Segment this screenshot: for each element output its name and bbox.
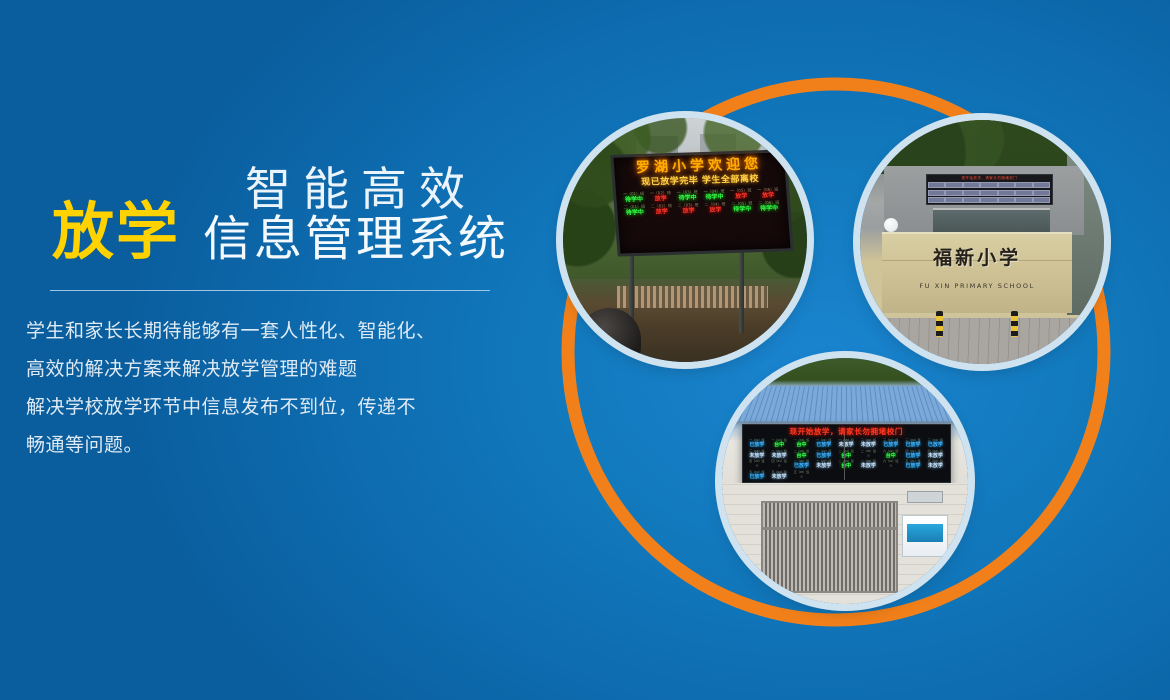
led-class-cell: 五（05）班■ [790,470,812,481]
person-silhouette [578,308,641,362]
photo-fuxin-school-gate: 现开始放学，请家长勿拥堵校门 福新小学 FU XIN PRIMARY SCHOO… [860,120,1104,364]
led-class-cell: 一（03）班待学中 [674,189,702,203]
metal-gate [761,501,898,594]
led-header-gate: 现开始放学，请家长勿拥堵校门 [746,427,947,437]
description-line-3: 解决学校放学环节中信息发布不到位，传递不 [26,388,546,426]
led-class-cell: 三（01）班未放学 [857,438,879,449]
led-class-cell: 二（01）班待学中 [621,204,649,218]
led-class-cell [1033,197,1050,203]
fence-shape [617,286,768,308]
led-class-cell: 五（04）班未放学 [768,470,790,481]
led-class-cell [1015,182,1032,188]
led-column-separator [844,435,845,481]
led-class-cell: 一（02）班放学 [647,190,675,204]
led-class-cell: 一（06）班放学 [754,187,782,201]
led-class-cell: 二（06）班待学中 [755,200,783,214]
led-class-cell: 三（02）班已放学 [880,438,902,449]
led-class-cell: 二（05）班■ [857,449,879,460]
led-class-cell: 四（02）班未放学 [924,449,946,460]
led-class-cell: 五（03）班已放学 [746,470,768,481]
led-class-cell [945,182,962,188]
lamp-post [884,218,898,232]
led-class-cell [998,190,1015,196]
school-name-en: FU XIN PRIMARY SCHOOL [882,282,1072,290]
led-class-grid-luohu: 一（01）班待学中一（02）班放学一（03）班待学中一（04）班待学中一（05）… [620,187,784,218]
led-display-board-luohu: 罗湖小学欢迎您 现已放学完毕 学生全部离校 一（01）班待学中一（02）班放学一… [610,150,793,258]
led-class-cell: 二（08）班台中 [835,459,857,470]
bollard-left [936,311,943,337]
led-class-cell [963,197,980,203]
description-text: 学生和家长长期待能够有一套人性化、智能化、 高效的解决方案来解决放学管理的难题 … [26,312,546,464]
led-class-cell: 一（03）班台中 [790,438,812,449]
led-class-cell [980,197,997,203]
led-class-cell: 一（05）班放学 [728,188,756,202]
led-class-cell: 二（02）班台中 [790,449,812,460]
led-class-cell: 二（03）班已放学 [813,449,835,460]
led-class-cell: 二（07）班未放学 [813,459,835,470]
bollard-right [1011,311,1018,337]
led-class-cell [980,182,997,188]
promo-banner: 智能高效 放学 信息管理系统 学生和家长长期待能够有一套人性化、智能化、 高效的… [0,0,1170,700]
led-class-cell: 五（01）班已放学 [902,459,924,470]
led-class-cell: 一（04）班已放学 [813,438,835,449]
headline-highlight: 放学 [52,201,180,263]
blue-tiled-canopy [723,386,967,422]
led-class-cell: 三（04）班已放学 [924,438,946,449]
led-class-cell [945,197,962,203]
school-name-cn: 福新小学 [882,247,1072,269]
led-class-cell: 二（04）班放学 [702,201,730,215]
led-class-cell [928,197,945,203]
led-class-cell [1033,182,1050,188]
headline-kicker: 智能高效 [245,166,477,212]
led-class-cell: 二（05）班待学中 [728,200,756,214]
led-class-cell [963,182,980,188]
led-class-cell [998,182,1015,188]
led-class-cell: 二（02）班放学 [648,203,676,217]
notice-board [902,515,948,556]
led-class-cell [980,190,997,196]
led-class-cell [1015,197,1032,203]
led-class-grid-gate: 一（01）班已放学一（02）班台中一（03）班台中一（04）班已放学一（05）班… [746,438,947,480]
led-class-cell: 一（01）班待学中 [620,191,648,205]
led-class-grid-fuxin [928,182,1051,204]
led-class-cell [928,182,945,188]
led-class-cell: 一（01）班已放学 [746,438,768,449]
led-class-cell: 二（09）班未放学 [857,459,879,470]
led-display-board-gate: 现开始放学，请家长勿拥堵校门 一（01）班已放学一（02）班台中一（03）班台中… [742,424,951,483]
led-class-cell [928,190,945,196]
led-class-cell: 二（03）班放学 [675,202,703,216]
headline-main: 信息管理系统 [203,215,509,263]
led-class-cell: 六（01）班台中 [880,449,902,460]
title-divider [50,290,490,291]
photo-gate-led-display: 现开始放学，请家长勿拥堵校门 一（01）班已放学一（02）班台中一（03）班台中… [722,358,968,604]
description-line-2: 高效的解决方案来解决放学管理的难题 [26,350,546,388]
led-class-cell: 二（04）班台中 [835,449,857,460]
page-title: 智能高效 放学 信息管理系统 [0,160,520,280]
led-class-cell [1033,190,1050,196]
led-class-cell: 三（03）班已放学 [902,438,924,449]
led-class-cell: 一（05）班未放学 [835,438,857,449]
led-class-cell: 二（01）班未放学 [768,449,790,460]
sign-post-right [739,245,744,333]
school-name-wall: 福新小学 FU XIN PRIMARY SCHOOL [882,232,1072,313]
led-class-cell [1015,190,1032,196]
led-class-cell: 一（02）班台中 [768,438,790,449]
led-class-cell: 五（02）班未放学 [924,459,946,470]
led-class-cell: 六（02）班■ [880,459,902,470]
led-class-cell: 三（05）班未放学 [746,449,768,460]
led-class-cell: 四（04）班■ [768,459,790,470]
banner-copy: 智能高效 放学 信息管理系统 学生和家长长期待能够有一套人性化、智能化、 高效的… [0,160,520,280]
led-class-cell [998,197,1015,203]
led-class-cell: 四（01）班已放学 [902,449,924,460]
led-class-cell: 一（04）班待学中 [701,188,729,202]
photo-luohu-led-billboard: 罗湖小学欢迎您 现已放学完毕 学生全部离校 一（01）班待学中一（02）班放学一… [563,118,807,362]
led-class-cell [945,190,962,196]
wall-plate [907,491,943,503]
led-display-board-fuxin: 现开始放学，请家长勿拥堵校门 [926,174,1053,206]
description-line-1: 学生和家长长期待能够有一套人性化、智能化、 [26,312,546,350]
led-class-cell [963,190,980,196]
led-class-cell: 二（06）班已放学 [790,459,812,470]
description-line-4: 畅通等问题。 [26,426,546,464]
led-class-cell: 四（03）班■ [746,459,768,470]
